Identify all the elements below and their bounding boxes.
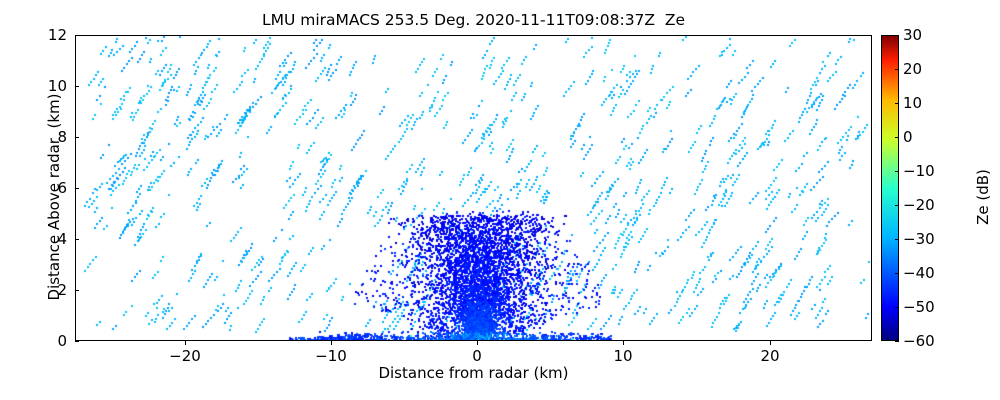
colorbar-tick-label: −30: [903, 230, 935, 248]
scatter-canvas: [76, 36, 872, 341]
colorbar-label: Ze (dB): [974, 47, 992, 347]
colorbar-tick-label: 10: [903, 94, 922, 112]
x-tick-mark: [185, 341, 186, 345]
colorbar-tick-mark: [895, 103, 899, 104]
y-axis-label: Distance Above radar (km): [45, 47, 63, 347]
colorbar-gradient: [882, 36, 898, 340]
colorbar-tick-mark: [895, 307, 899, 308]
plot-area: [75, 35, 872, 341]
y-tick-mark: [75, 137, 79, 138]
colorbar-tick-label: −20: [903, 196, 935, 214]
x-tick-mark: [623, 341, 624, 345]
colorbar-tick-mark: [895, 137, 899, 138]
colorbar-tick-mark: [895, 273, 899, 274]
colorbar-tick-mark: [895, 171, 899, 172]
x-tick-label: −10: [315, 347, 347, 365]
x-tick-label: −20: [169, 347, 201, 365]
colorbar-tick-label: 0: [903, 128, 913, 146]
colorbar-tick-mark: [895, 205, 899, 206]
y-tick-mark: [75, 86, 79, 87]
x-tick-mark: [477, 341, 478, 345]
x-axis-label: Distance from radar (km): [75, 364, 872, 382]
colorbar-tick-label: −50: [903, 298, 935, 316]
x-tick-mark: [331, 341, 332, 345]
colorbar-tick-mark: [895, 69, 899, 70]
colorbar-tick-label: 20: [903, 60, 922, 78]
x-tick-label: 0: [472, 347, 482, 365]
colorbar-tick-label: −40: [903, 264, 935, 282]
y-tick-mark: [75, 239, 79, 240]
y-tick-mark: [75, 188, 79, 189]
y-tick-mark: [75, 341, 79, 342]
colorbar-tick-mark: [895, 341, 899, 342]
x-tick-label: 20: [760, 347, 779, 365]
page-title: LMU miraMACS 253.5 Deg. 2020-11-11T09:08…: [75, 11, 872, 30]
colorbar-tick-label: −10: [903, 162, 935, 180]
y-tick-mark: [75, 35, 79, 36]
colorbar-tick-mark: [895, 239, 899, 240]
radar-rhi-figure: LMU miraMACS 253.5 Deg. 2020-11-11T09:08…: [0, 0, 1000, 400]
colorbar-tick-label: 30: [903, 26, 922, 44]
x-tick-mark: [770, 341, 771, 345]
colorbar-tick-mark: [895, 35, 899, 36]
y-tick-mark: [75, 290, 79, 291]
x-tick-label: 10: [613, 347, 632, 365]
colorbar-tick-label: −60: [903, 332, 935, 350]
colorbar: [881, 35, 899, 341]
y-tick-label: 12: [23, 26, 67, 44]
